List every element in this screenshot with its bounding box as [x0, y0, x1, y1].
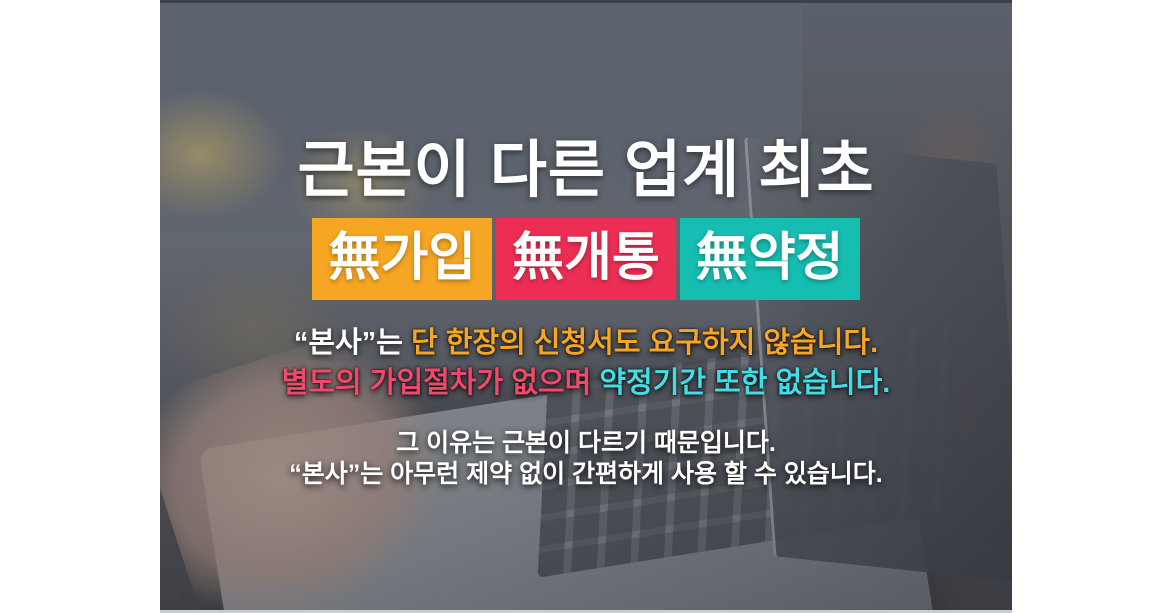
banner-content: 근본이 다른 업계 최초 無가입 無개통 無약정 “본사”는 단 한장의 신청서…: [160, 0, 1012, 613]
feature-badge-row: 無가입 無개통 無약정: [160, 218, 1012, 300]
subline-one-highlight: 단 한장의 신청서도 요구하지 않습니다.: [411, 327, 878, 359]
badge-no-activation: 無개통: [496, 218, 676, 300]
banner-headline: 근본이 다른 업계 최초: [160, 140, 1012, 202]
subline-two-highlight-pink: 별도의 가입절차가 없으며: [282, 367, 600, 399]
subline-two: 별도의 가입절차가 없으며 약정기간 또한 없습니다.: [160, 366, 1012, 401]
page-root: 근본이 다른 업계 최초 無가입 無개통 無약정 “본사”는 단 한장의 신청서…: [0, 0, 1170, 613]
subline-one-company: “본사”는: [294, 327, 411, 359]
footnote-line-one: 그 이유는 근본이 다르기 때문입니다.: [160, 428, 1012, 458]
badge-no-contract: 無약정: [680, 218, 860, 300]
badge-no-signup: 無가입: [312, 218, 492, 300]
footnote-line-two: “본사”는 아무런 제약 없이 간편하게 사용 할 수 있습니다.: [160, 459, 1012, 489]
subline-two-highlight-cyan: 약정기간 또한 없습니다.: [599, 367, 890, 399]
promo-banner: 근본이 다른 업계 최초 無가입 無개통 無약정 “본사”는 단 한장의 신청서…: [160, 0, 1012, 613]
subline-one: “본사”는 단 한장의 신청서도 요구하지 않습니다.: [160, 326, 1012, 361]
